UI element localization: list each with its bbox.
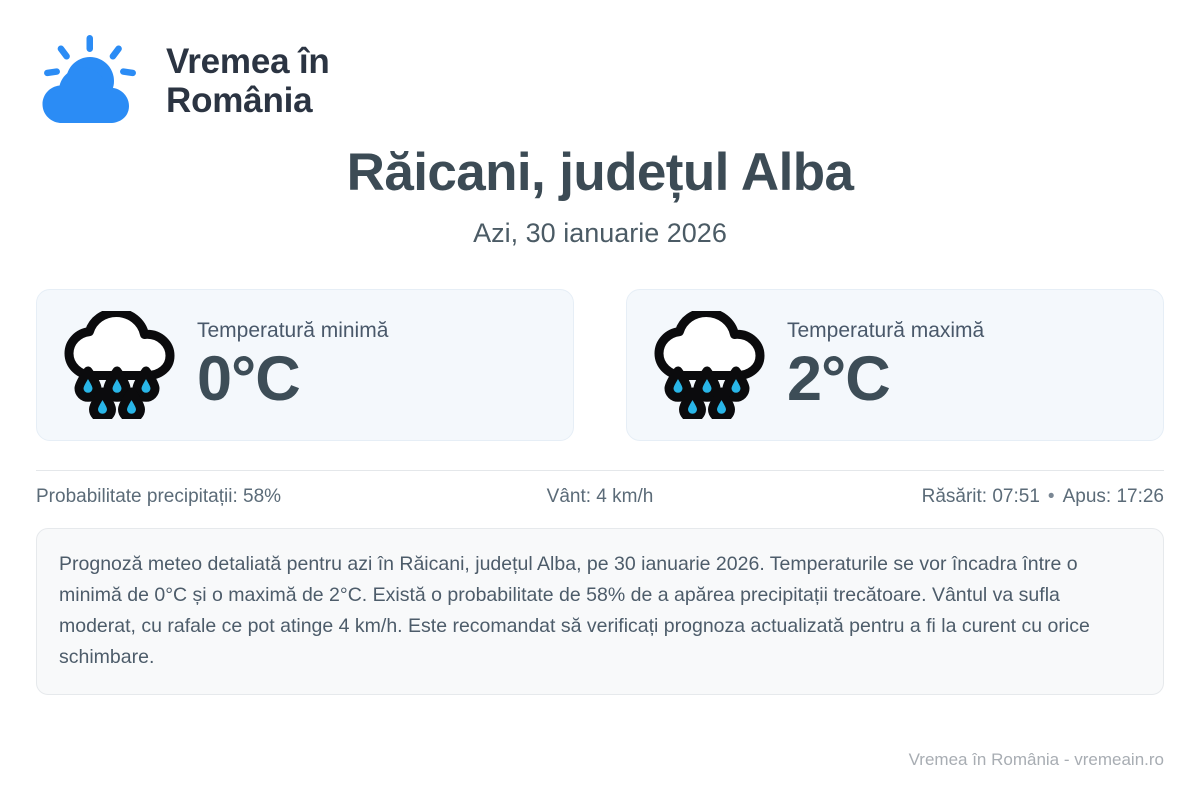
- max-temperature-text: Temperatură maximă 2°C: [787, 318, 984, 413]
- wind-stat: Vânt: 4 km/h: [412, 486, 788, 508]
- sunrise-value: Răsărit: 07:51: [922, 486, 1040, 507]
- footer-credit: Vremea în România - vremeain.ro: [909, 750, 1164, 770]
- max-temperature-label: Temperatură maximă: [787, 318, 984, 343]
- weather-page: Vremea în România Răicani, județul Alba …: [0, 0, 1200, 800]
- max-temperature-card: Temperatură maximă 2°C: [626, 289, 1164, 441]
- title-block: Răicani, județul Alba Azi, 30 ianuarie 2…: [36, 144, 1164, 249]
- min-temperature-value: 0°C: [197, 345, 388, 413]
- sun-behind-cloud-icon: [36, 33, 144, 129]
- brand-header: Vremea în România: [36, 0, 1164, 110]
- min-temperature-text: Temperatură minimă 0°C: [197, 318, 388, 413]
- temperature-cards: Temperatură minimă 0°C Temper: [36, 289, 1164, 441]
- min-temperature-card: Temperatură minimă 0°C: [36, 289, 574, 441]
- min-temperature-label: Temperatură minimă: [197, 318, 388, 343]
- precipitation-stat: Probabilitate precipitații: 58%: [36, 486, 412, 508]
- page-title: Răicani, județul Alba: [36, 144, 1164, 201]
- forecast-description: Prognoză meteo detaliată pentru azi în R…: [36, 528, 1164, 695]
- stats-row: Probabilitate precipitații: 58% Vânt: 4 …: [36, 471, 1164, 523]
- sun-times-stat: Răsărit: 07:51•Apus: 17:26: [788, 486, 1164, 508]
- max-temperature-value: 2°C: [787, 345, 984, 413]
- rain-cloud-icon: [649, 311, 765, 419]
- brand-name: Vremea în România: [166, 42, 330, 120]
- page-subtitle: Azi, 30 ianuarie 2026: [36, 218, 1164, 249]
- sun-times-separator: •: [1040, 486, 1063, 508]
- rain-cloud-icon: [59, 311, 175, 419]
- sunset-value: Apus: 17:26: [1063, 486, 1164, 507]
